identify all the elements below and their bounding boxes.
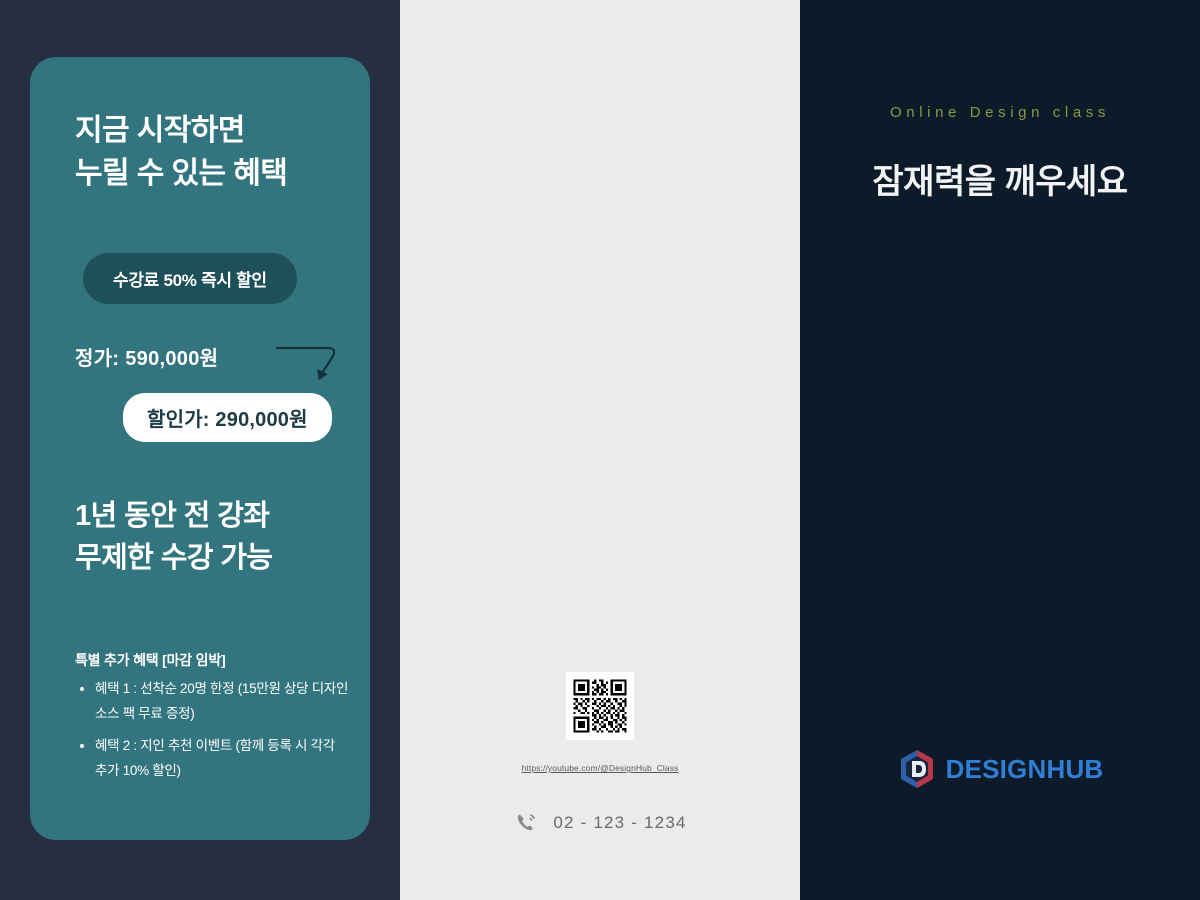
sale-price-badge: 할인가: 290,000원 (123, 393, 332, 442)
phone-contact: 02 - 123 - 1234 (513, 810, 686, 836)
benefits-heading-line1: 지금 시작하면 (75, 110, 335, 153)
benefits-card: 지금 시작하면 누릴 수 있는 혜택 수강료 50% 즉시 할인 정가: 590… (30, 57, 370, 840)
brochure-page: 지금 시작하면 누릴 수 있는 혜택 수강료 50% 즉시 할인 정가: 590… (0, 0, 1200, 900)
benefits-heading: 지금 시작하면 누릴 수 있는 혜택 (75, 110, 335, 195)
list-item: 혜택 1 : 선착순 20명 한정 (15만원 상당 디자인소스 팩 무료 증정… (78, 677, 350, 727)
phone-number: 02 - 123 - 1234 (553, 813, 686, 833)
unlimited-heading-line2: 무제한 수강 가능 (75, 537, 345, 579)
curved-arrow-icon (275, 342, 345, 390)
unlimited-access-heading: 1년 동안 전 강좌 무제한 수강 가능 (75, 495, 345, 579)
panel-center: https://youtube.com/@DesignHub_Class 02 … (400, 0, 800, 900)
youtube-url-link[interactable]: https://youtube.com/@DesignHub_Class (522, 763, 679, 773)
bonus-section-title: 특별 추가 혜택 [마감 임박] (75, 650, 225, 670)
bonus-list: 혜택 1 : 선착순 20명 한정 (15만원 상당 디자인소스 팩 무료 증정… (78, 677, 350, 791)
designhub-logo: DESIGNHUB (800, 748, 1200, 790)
discount-badge: 수강료 50% 즉시 할인 (83, 253, 297, 304)
unlimited-heading-line1: 1년 동안 전 강좌 (75, 495, 345, 537)
designhub-logo-text: DESIGNHUB (946, 754, 1104, 785)
phone-ringing-icon (513, 810, 539, 836)
page-title: 잠재력을 깨우세요 (800, 154, 1200, 203)
original-price: 정가: 590,000원 (75, 342, 218, 371)
panel-left: 지금 시작하면 누릴 수 있는 혜택 수강료 50% 즉시 할인 정가: 590… (0, 0, 400, 900)
eyebrow-text: Online Design class (800, 104, 1200, 121)
designhub-hexagon-logo-icon (897, 748, 937, 790)
benefits-heading-line2: 누릴 수 있는 혜택 (75, 153, 335, 196)
panel-right: Online Design class 잠재력을 깨우세요 (800, 0, 1200, 900)
list-item: 혜택 2 : 지인 추천 이벤트 (함께 등록 시 각각 추가 10% 할인) (78, 734, 350, 784)
qr-code-image (571, 677, 629, 735)
qr-code[interactable] (566, 672, 634, 740)
